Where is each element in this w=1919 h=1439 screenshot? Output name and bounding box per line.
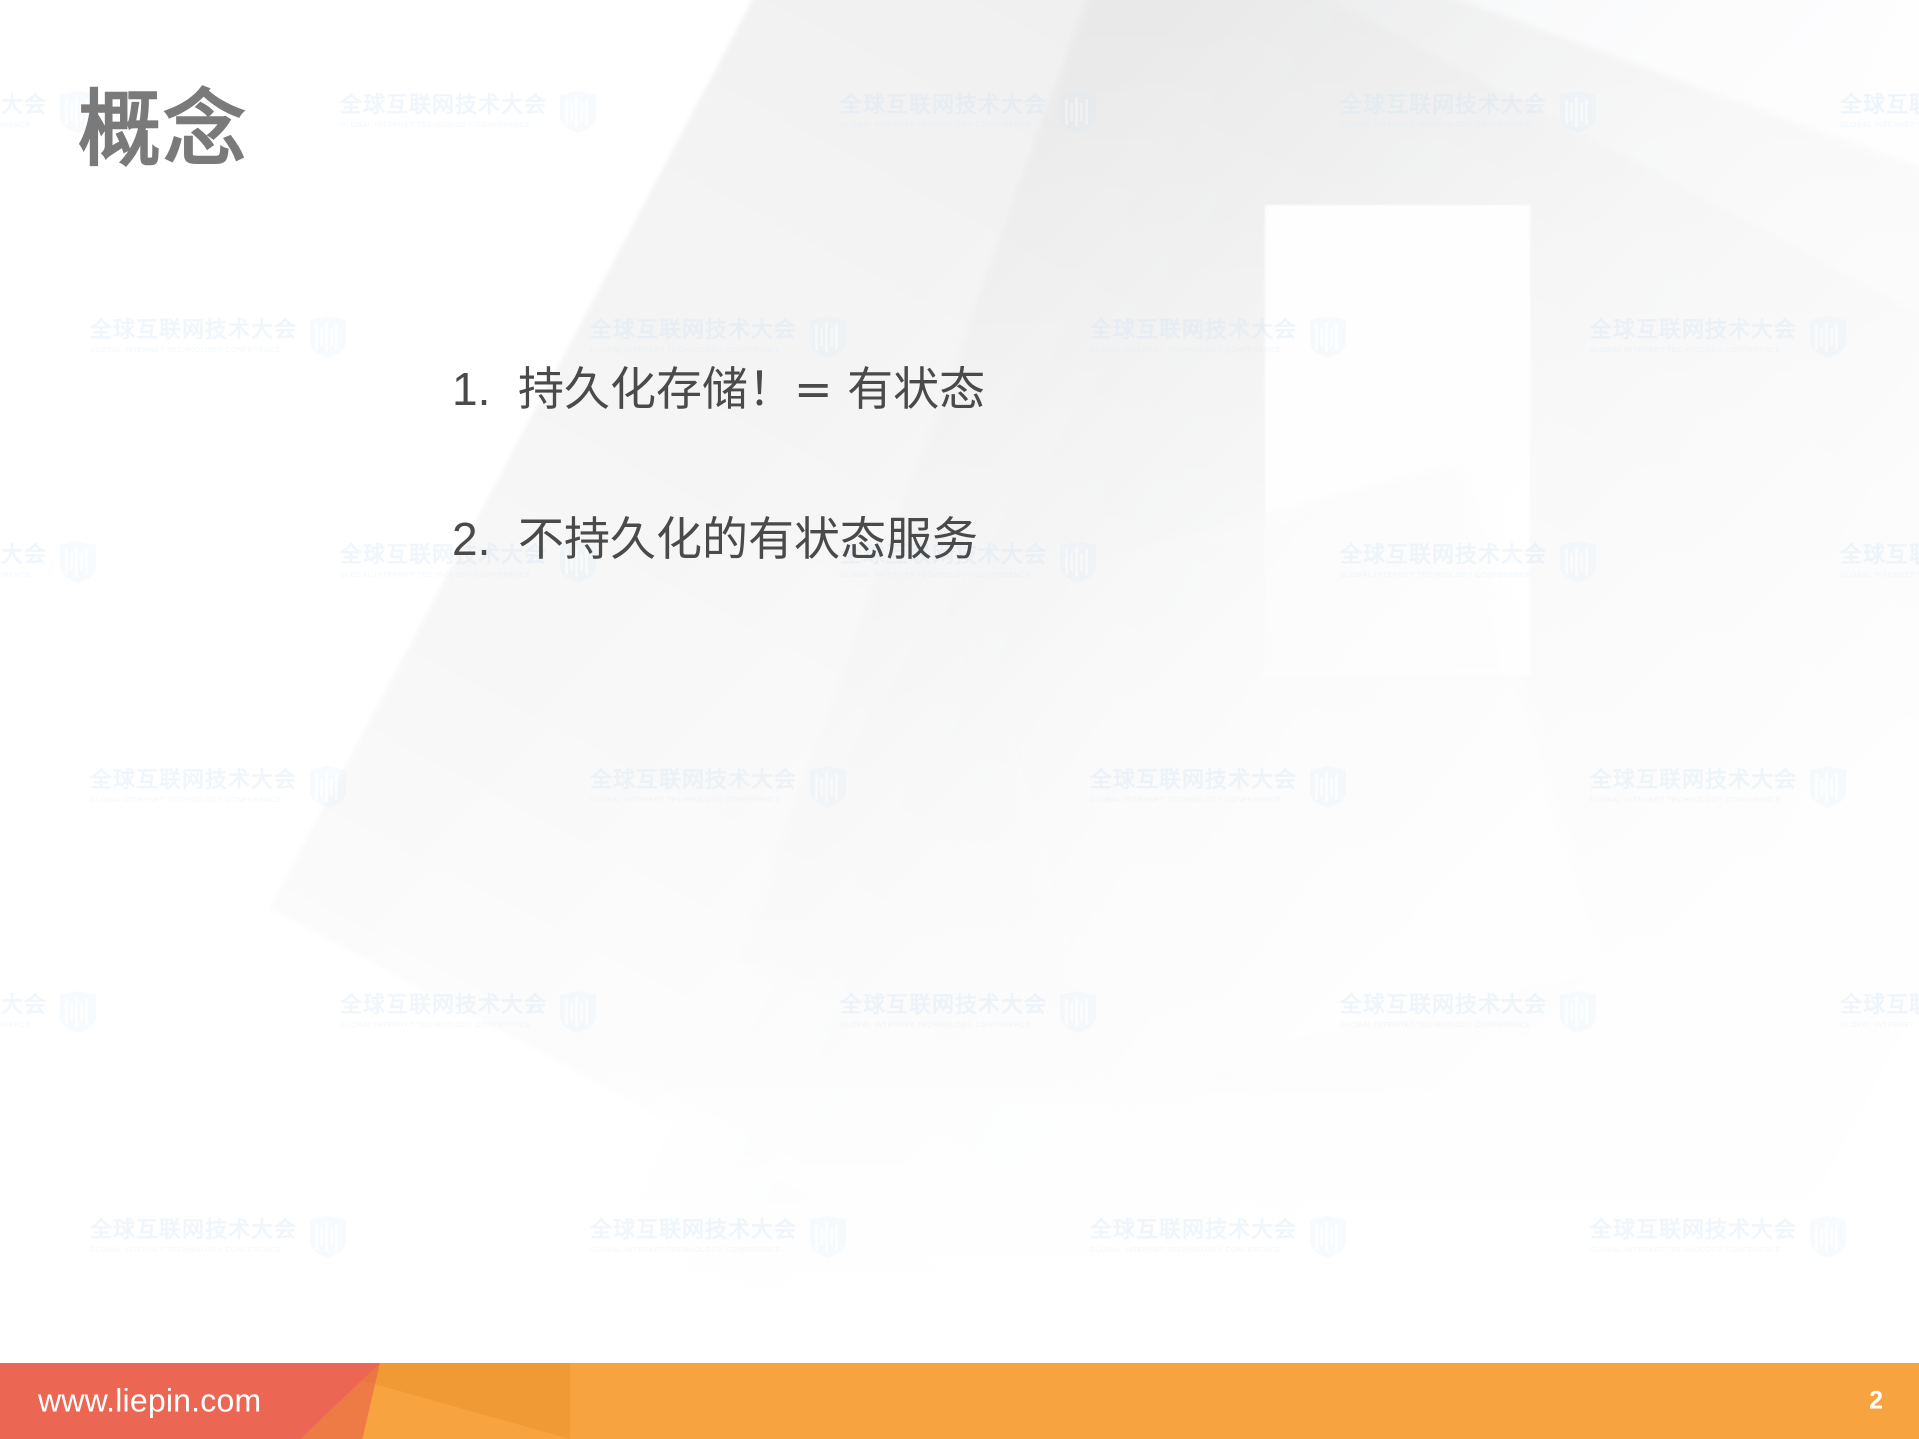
list-item: 2. 不持久化的有状态服务 [452, 514, 1552, 566]
list-item-number: 2. [452, 514, 518, 566]
list-item-text: 不持久化的有状态服务 [518, 514, 978, 566]
content-list: 1. 持久化存储！= 有状态 2. 不持久化的有状态服务 [452, 364, 1552, 565]
footer-page-number: 2 [1869, 1387, 1883, 1416]
list-item-number: 1. [452, 364, 518, 416]
slide-footer: www.liepin.com 2 [0, 1363, 1919, 1439]
list-item: 1. 持久化存储！= 有状态 [452, 364, 1552, 416]
footer-website-link[interactable]: www.liepin.com [38, 1383, 261, 1420]
slide-canvas: 全球互联网技术大会GLOBAL INTERNET TECHNOLOGY CONF… [0, 0, 1919, 1439]
list-item-text: 持久化存储！= 有状态 [518, 364, 985, 416]
page-title: 概念 [78, 88, 248, 171]
